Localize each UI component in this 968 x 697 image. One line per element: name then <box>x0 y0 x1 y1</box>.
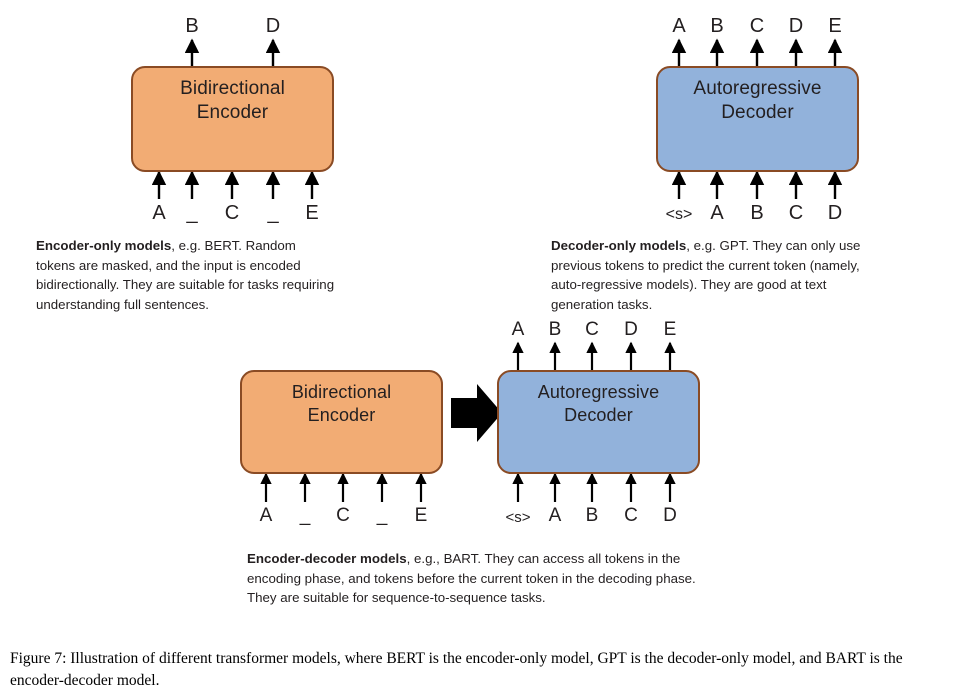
encoder-box-line2: Encoder <box>197 101 268 125</box>
panel2-input-token-1: A <box>710 203 723 223</box>
decoder-box-panel2: Autoregressive Decoder <box>656 66 859 172</box>
panel3-decoder-input-token-2: B <box>586 506 599 526</box>
decoder-box-line1: Autoregressive <box>693 77 821 101</box>
panel2-output-arrows <box>679 40 835 66</box>
panel3-decoder-output-token-1: B <box>549 320 562 340</box>
panel1-input-token-1: _ <box>186 203 197 223</box>
panel2-input-arrows <box>679 172 835 199</box>
panel2-output-token-2: C <box>750 16 764 36</box>
panel1-input-token-4: E <box>305 203 318 223</box>
panel3-decoder-output-token-0: A <box>512 320 525 340</box>
panel2-input-token-4: D <box>828 203 842 223</box>
panel1-input-token-3: _ <box>267 203 278 223</box>
panel3-decoder-output-token-3: D <box>624 320 638 340</box>
panel2-input-token-3: C <box>789 203 803 223</box>
panel3-decoder-input-arrows <box>518 474 670 502</box>
panel1-output-token-1: D <box>266 16 280 36</box>
panel3-encoder-input-arrows <box>266 474 421 502</box>
panel3-decoder-input-token-4: D <box>663 506 677 526</box>
panel1-input-token-0: A <box>152 203 165 223</box>
panel3-decoder-input-token-0: <s> <box>505 508 530 528</box>
panel3-encoder-input-token-3: _ <box>377 506 388 526</box>
panel3-decoder-output-token-4: E <box>664 320 677 340</box>
figure-canvas: Bidirectional Encoder B D A _ C _ E Enco… <box>0 0 968 697</box>
encoder-box-line1: Bidirectional <box>180 77 285 101</box>
panel3-encoder-input-token-0: A <box>260 506 273 526</box>
encoder-decoder-description-bold: Encoder-decoder models <box>247 551 407 566</box>
decoder-only-description: Decoder-only models, e.g. GPT. They can … <box>551 236 871 314</box>
block-right-arrow-icon <box>451 384 502 442</box>
panel2-input-token-2: B <box>750 203 763 223</box>
encoder-decoder-description: Encoder-decoder models, e.g., BART. They… <box>247 549 702 608</box>
panel2-output-token-0: A <box>672 16 685 36</box>
panel3-encoder-input-token-4: E <box>415 506 428 526</box>
encoder-only-description-bold: Encoder-only models <box>36 238 171 253</box>
decoder-box-line2: Decoder <box>721 101 794 125</box>
panel3-decoder-output-token-2: C <box>585 320 599 340</box>
panel3-decoder-output-arrows <box>518 343 670 370</box>
encoder-only-description: Encoder-only models, e.g. BERT. Random t… <box>36 236 336 314</box>
panel3-encoder-input-token-1: _ <box>300 506 311 526</box>
encoder-box-panel3-line2: Encoder <box>308 404 376 427</box>
panel1-output-arrows <box>192 40 273 66</box>
decoder-box-panel3-line2: Decoder <box>564 404 633 427</box>
encoder-box-panel3-line1: Bidirectional <box>292 381 391 404</box>
panel1-input-token-2: C <box>225 203 239 223</box>
panel1-input-arrows <box>159 172 312 199</box>
panel3-encoder-input-token-2: C <box>336 506 350 526</box>
panel1-output-token-0: B <box>185 16 198 36</box>
panel2-output-token-3: D <box>789 16 803 36</box>
decoder-box-panel3: Autoregressive Decoder <box>497 370 700 474</box>
decoder-box-panel3-line1: Autoregressive <box>538 381 659 404</box>
encoder-box-panel1: Bidirectional Encoder <box>131 66 334 172</box>
encoder-box-panel3: Bidirectional Encoder <box>240 370 443 474</box>
panel3-decoder-input-token-1: A <box>549 506 562 526</box>
panel2-output-token-1: B <box>710 16 723 36</box>
decoder-only-description-bold: Decoder-only models <box>551 238 686 253</box>
panel3-decoder-input-token-3: C <box>624 506 638 526</box>
panel2-input-token-0: <s> <box>666 205 693 225</box>
figure-caption: Figure 7: Illustration of different tran… <box>10 648 960 692</box>
panel2-output-token-4: E <box>828 16 841 36</box>
